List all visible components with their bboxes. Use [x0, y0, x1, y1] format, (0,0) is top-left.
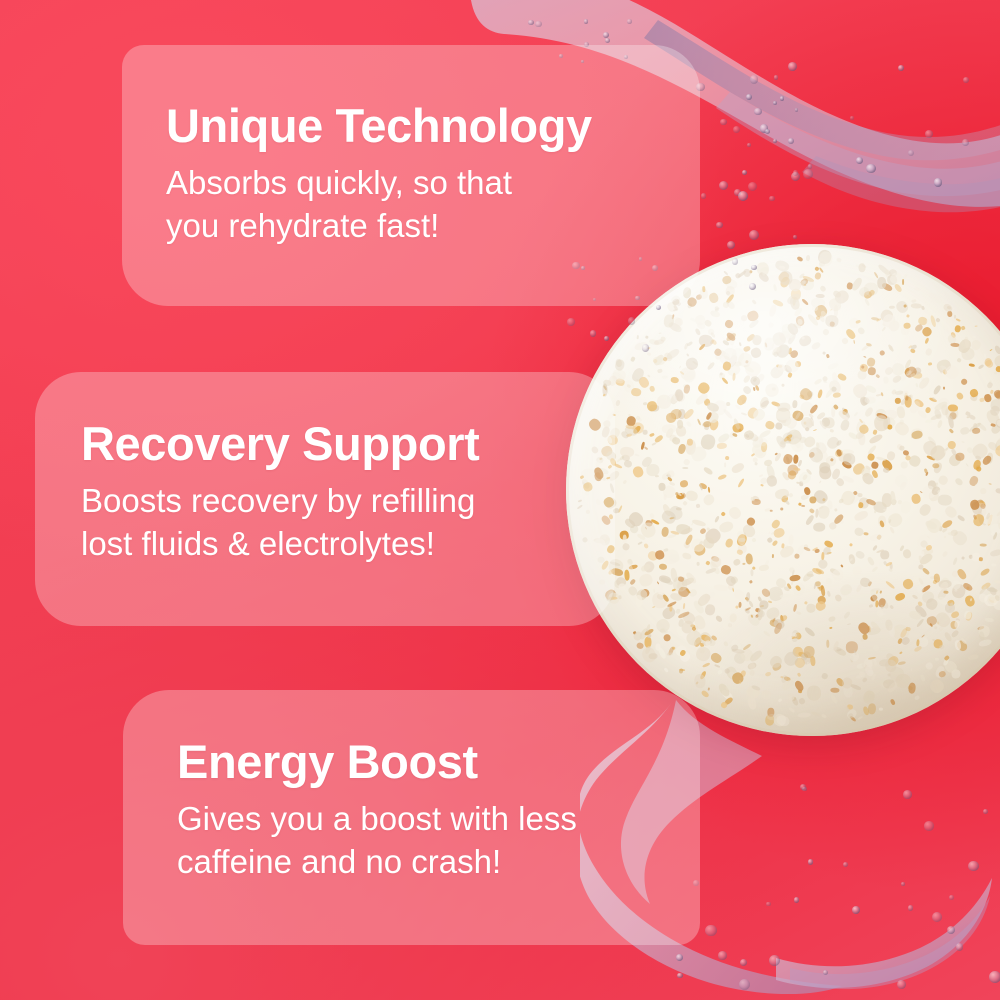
bubble [603, 32, 609, 38]
bubble [903, 790, 912, 799]
bubble [788, 62, 797, 71]
bubble [901, 882, 905, 886]
card-headline: Recovery Support [81, 420, 479, 467]
bubble [962, 139, 969, 146]
bubble [738, 191, 748, 201]
bubble [791, 172, 801, 182]
bubble [780, 96, 784, 100]
bubble [773, 139, 777, 143]
bubble [850, 116, 854, 120]
bubble [740, 959, 747, 966]
bubble [748, 182, 757, 191]
bubble [774, 75, 779, 80]
card-headline: Energy Boost [177, 738, 577, 785]
bubble [934, 178, 942, 186]
bubble [720, 119, 727, 126]
card-content: Unique Technology Absorbs quickly, so th… [166, 102, 592, 248]
bubble [794, 897, 799, 902]
bubble [949, 895, 954, 900]
card-headline: Unique Technology [166, 102, 592, 149]
card-content: Energy Boost Gives you a boost with less… [177, 738, 577, 884]
bubble [765, 129, 771, 135]
feature-card-unique-technology[interactable]: Unique Technology Absorbs quickly, so th… [122, 45, 700, 306]
bubble [924, 821, 933, 830]
card-description-line: caffeine and no crash! [177, 841, 577, 884]
bubble [983, 809, 988, 814]
bubble [852, 906, 860, 914]
bubble [956, 943, 964, 951]
bubble [739, 979, 750, 990]
bubble [932, 912, 942, 922]
bubble [528, 20, 534, 26]
bubble [968, 861, 979, 872]
bubble [788, 138, 794, 144]
bubble [947, 926, 955, 934]
card-description: Boosts recovery by refilling lost fluids… [81, 480, 479, 566]
bubble [769, 955, 780, 966]
bubble [719, 181, 728, 190]
bubble [747, 143, 751, 147]
bubble [856, 157, 863, 164]
bubble [733, 126, 740, 133]
bubble [584, 19, 589, 24]
bubble [535, 21, 542, 28]
card-description-line: you rehydrate fast! [166, 205, 592, 248]
bubble [749, 230, 759, 240]
bubble [795, 108, 798, 111]
bubble [760, 124, 769, 133]
infographic-canvas: Unique Technology Absorbs quickly, so th… [0, 0, 1000, 1000]
bubble [963, 77, 969, 83]
bubble [908, 150, 915, 157]
bubble [843, 862, 848, 867]
bubble [925, 130, 933, 138]
bubble [754, 108, 762, 116]
bubble [750, 75, 758, 83]
bubble [766, 902, 771, 907]
bubble [898, 65, 904, 71]
bubble [605, 38, 610, 43]
bubble [701, 193, 707, 199]
bubble [773, 101, 777, 105]
bubble [989, 971, 1000, 983]
bubble [908, 905, 914, 911]
bubble [803, 169, 813, 179]
bubble [627, 19, 632, 24]
bubble [716, 222, 723, 229]
bubble [866, 164, 876, 174]
feature-card-recovery-support[interactable]: Recovery Support Boosts recovery by refi… [35, 372, 615, 626]
feature-card-energy-boost[interactable]: Energy Boost Gives you a boost with less… [123, 690, 700, 945]
bubble [823, 970, 828, 975]
bubble [897, 980, 906, 989]
bubble [769, 196, 774, 201]
card-content: Recovery Support Boosts recovery by refi… [81, 420, 479, 566]
bubble [742, 170, 747, 175]
card-description-line: Boosts recovery by refilling [81, 480, 479, 523]
card-description: Gives you a boost with less caffeine and… [177, 798, 577, 884]
bubble [808, 164, 813, 169]
bubble [677, 973, 683, 979]
bubble [734, 189, 741, 196]
card-description-line: Gives you a boost with less [177, 798, 577, 841]
bubble [800, 784, 806, 790]
bubble [808, 859, 814, 865]
effervescent-tablet [566, 244, 1000, 736]
bubble [676, 954, 683, 961]
bubble [746, 94, 752, 100]
bubble [793, 170, 799, 176]
bubble [718, 951, 727, 960]
card-description-line: Absorbs quickly, so that [166, 162, 592, 205]
bubble [705, 925, 717, 937]
bubble [793, 235, 797, 239]
bubble [802, 787, 806, 791]
card-description: Absorbs quickly, so that you rehydrate f… [166, 162, 592, 248]
card-description-line: lost fluids & electrolytes! [81, 523, 479, 566]
